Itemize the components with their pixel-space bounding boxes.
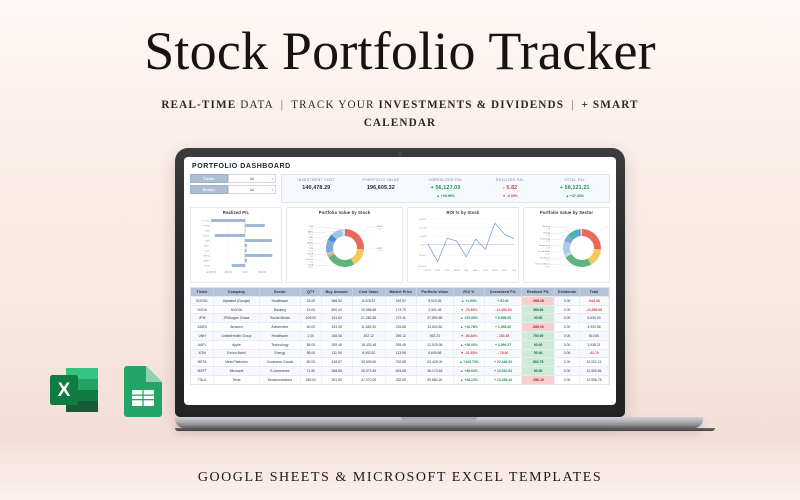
- laptop-mockup: PORTFOLIO DASHBOARD Ticker All ▾ Sector: [175, 148, 625, 431]
- svg-text:AMZN: AMZN: [454, 269, 460, 272]
- table-cell-qty: 58.00: [301, 349, 322, 358]
- table-cell-roi: ▼ -78.83%: [453, 305, 484, 314]
- svg-text:Healthcare: Healthcare: [540, 256, 551, 259]
- table-cell-dividends: 0.00: [555, 305, 580, 314]
- svg-text:5.6%: 5.6%: [309, 245, 314, 247]
- svg-text:TSLA: TSLA: [204, 264, 210, 267]
- table-cell-roi: ▲ +100.70%: [453, 358, 484, 367]
- table-cell-unrealized-p-l: + 3,990.37: [484, 340, 521, 349]
- table-cell-total: 12,996.78: [579, 375, 608, 383]
- table-cell-company: Tesla: [214, 375, 259, 383]
- kpi-value: + 56,127.03: [413, 185, 478, 191]
- table-cell-realized-p-l: 50.40: [522, 349, 555, 358]
- table-cell-market-price: 255.46: [385, 340, 416, 349]
- table-cell-sector: Energy: [259, 349, 300, 358]
- kpi-delta: ▲ +39.96%: [413, 194, 478, 198]
- kpi-delta: ▼ -0.00%: [478, 194, 543, 198]
- table-cell-roi: ▼ -56.84%: [453, 332, 484, 341]
- table-cell-unrealized-p-l: - 12,280.94: [484, 305, 521, 314]
- table-cell-realized-p-l: 20.00: [522, 314, 555, 323]
- app-icons: X: [46, 362, 174, 418]
- svg-text:24.8%: 24.8%: [308, 267, 314, 269]
- table-cell-buy-amount: 261.50: [321, 375, 352, 383]
- hero-sub-separator-2: |: [564, 99, 581, 111]
- table-cell-realized-p-l: -390.20: [522, 375, 555, 383]
- chart-title-realized-pl: Realized P/L: [193, 210, 279, 215]
- svg-text:2.7%: 2.7%: [309, 228, 314, 230]
- table-cell-portfolio-value: 27,890.85: [416, 314, 453, 323]
- table-header-buy-amount: Buy Amount: [321, 288, 352, 297]
- svg-text:Energy: Energy: [544, 231, 552, 234]
- table-cell-cost-value: 11,669.40: [352, 323, 385, 332]
- table-row[interactable]: GOOGLAlphabet (Google)Healthcare23.00368…: [191, 296, 609, 305]
- table-cell-roi: ▲ +29.90%: [453, 314, 484, 323]
- svg-text:2.7%: 2.7%: [546, 260, 551, 262]
- chart-title-value-by-stock: Portfolio Value by Stock: [289, 210, 400, 215]
- charts-row: Realized P/L GOOGLNVDAJPMAMZNUNHAAPLXOMM…: [190, 207, 610, 283]
- svg-text:2.4%: 2.4%: [309, 261, 314, 263]
- svg-text:-100.00%: -100.00%: [418, 265, 427, 267]
- table-row[interactable]: TSLATeslaSemiconductors180.00261.5047,07…: [191, 375, 609, 383]
- svg-text:11.5%: 11.5%: [308, 250, 314, 252]
- table-cell-roi: ▼ -21.63%: [453, 349, 484, 358]
- table-body: GOOGLAlphabet (Google)Healthcare23.00368…: [191, 296, 609, 383]
- table-cell-dividends: 0.00: [555, 314, 580, 323]
- table-cell-portfolio-value: 6,609.68: [416, 349, 453, 358]
- chart-roi-by-stock: ROI % by Stock 120.00%80.00%40.00%0.00%-…: [407, 207, 519, 283]
- table-cell-dividends: 0.00: [555, 323, 580, 332]
- portfolio-value-by-sector-donut: Consumer Goods26.2%E-commerce15.8%Bankin…: [526, 216, 610, 280]
- table-cell-ticker: GOOGL: [191, 296, 214, 305]
- table-cell-qty: 71.50: [301, 367, 322, 376]
- svg-text:X: X: [58, 380, 71, 401]
- hero-sub-part-realtime: REAL-TIME: [161, 99, 236, 111]
- svg-text:80.00%: 80.00%: [419, 227, 426, 229]
- svg-text:JPM: JPM: [445, 270, 449, 272]
- chart-title-roi-by-stock: ROI % by Stock: [410, 210, 516, 215]
- table-cell-ticker: JPM: [191, 314, 214, 323]
- footer-text: GOOGLE SHEETS & MICROSOFT EXCEL TEMPLATE…: [0, 470, 800, 486]
- table-cell-portfolio-value: 63,428.00: [416, 358, 453, 367]
- filter-sector-select[interactable]: All ▾: [228, 185, 276, 194]
- kpi-card-3: REALIZED P&L- 5.82▼ -0.00%: [478, 178, 543, 198]
- table-cell-total: 3,938.21: [579, 340, 608, 349]
- table-cell-portfolio-value: 5,910.35: [416, 296, 453, 305]
- table-cell-ticker: MSFT: [191, 367, 214, 376]
- filter-ticker-select[interactable]: All ▾: [228, 174, 276, 183]
- svg-text:UNH: UNH: [205, 240, 210, 242]
- svg-text:META: META: [377, 225, 383, 228]
- table-cell-realized-p-l: 60.00: [522, 340, 555, 349]
- svg-text:AAPL: AAPL: [473, 269, 479, 272]
- kpi-label: UNREALIZED P&L: [413, 178, 478, 182]
- table-cell-sector: Banking: [259, 305, 300, 314]
- kpi-label: INVESTMENT COST: [284, 178, 349, 182]
- chart-portfolio-value-by-stock: Portfolio Value by Stock META26.2%MSFT15…: [286, 207, 403, 283]
- table-cell-unrealized-p-l: + 1,958.40: [484, 323, 521, 332]
- svg-text:9.3%: 9.3%: [546, 241, 551, 243]
- chart-title-value-by-sector: Portfolio Value by Sector: [526, 210, 607, 215]
- table-cell-unrealized-p-l: + 22,448.53: [484, 358, 521, 367]
- table-cell-total: 32,002.24: [579, 358, 608, 367]
- table-cell-unrealized-p-l: - 180.35: [484, 332, 521, 341]
- table-cell-qty: 109.00: [301, 314, 322, 323]
- holdings-table: TickerCompanySectorQTYBuy AmountCost Val…: [191, 288, 609, 384]
- table-header-unrealized-p-l: Unrealized P/L: [484, 288, 521, 297]
- table-cell-cost-value: 18,432.48: [352, 340, 385, 349]
- table-cell-realized-p-l: -890.00: [522, 323, 555, 332]
- table-cell-cost-value: 8,476.37: [352, 296, 385, 305]
- table-cell-buy-amount: 245.56: [321, 332, 352, 341]
- table-cell-dividends: 0.00: [555, 367, 580, 376]
- svg-text:5.6%: 5.6%: [546, 247, 551, 249]
- filter-ticker-label: Ticker: [190, 174, 228, 183]
- table-cell-ticker: UNH: [191, 332, 214, 341]
- table-cell-company: Alphabet (Google): [214, 296, 259, 305]
- table-cell-dividends: 0.00: [555, 375, 580, 383]
- table-cell-ticker: TSLA: [191, 375, 214, 383]
- svg-text:NVDA: NVDA: [307, 252, 313, 255]
- table-cell-roi: ▲ +1.93%: [453, 296, 484, 305]
- portfolio-value-by-stock-donut: META26.2%MSFT15.8%XOM2.7%AAPL9.3%UNH0.2%…: [289, 216, 402, 280]
- kpi-card-0: INVESTMENT COST140,478.29: [284, 178, 349, 198]
- svg-text:XOM: XOM: [483, 270, 488, 272]
- table-cell-qty: 180.00: [301, 375, 322, 383]
- table-cell-sector: Consumer Goods: [259, 358, 300, 367]
- hero-sub-separator-1: |: [274, 99, 291, 111]
- table-row[interactable]: XOMExxon MobilEnergy58.00111.946,492.521…: [191, 349, 609, 358]
- table-cell-dividends: 0.00: [555, 296, 580, 305]
- kpi-value: - 5.82: [478, 185, 543, 191]
- table-cell-total: 12,500.84: [579, 367, 608, 376]
- table-cell-dividends: 0.00: [555, 332, 580, 341]
- google-sheets-icon[interactable]: [118, 362, 174, 418]
- kpi-label: PORTFOLIO VALUE: [349, 178, 414, 182]
- table-row[interactable]: NVDANVIDIABanking19.00820.4415,588.68173…: [191, 305, 609, 314]
- table-cell-portfolio-value: 592.24: [416, 332, 453, 341]
- table-cell-portfolio-value: 38,170.48: [416, 367, 453, 376]
- table-cell-buy-amount: 368.86: [321, 367, 352, 376]
- svg-text:AMZN: AMZN: [203, 234, 210, 237]
- table-row[interactable]: METAMeta PlatformsConsumer Goods80.00418…: [191, 358, 609, 367]
- table-header-company: Company: [214, 288, 259, 297]
- svg-text:0.2%: 0.2%: [309, 239, 314, 241]
- table-cell-buy-amount: 193.82: [321, 314, 352, 323]
- table-header-portfolio-value: Portfolio Value: [416, 288, 453, 297]
- table-cell-total: 4,900.56: [579, 323, 608, 332]
- table-cell-unrealized-p-l: + 82.91: [484, 296, 521, 305]
- svg-text:AAPL: AAPL: [204, 244, 210, 247]
- svg-text:-500.00: -500.00: [224, 271, 233, 274]
- laptop-screen: PORTFOLIO DASHBOARD Ticker All ▾ Sector: [184, 157, 616, 405]
- table-cell-buy-amount: 418.87: [321, 358, 352, 367]
- kpi-label: REALIZED P&L: [478, 178, 543, 182]
- svg-text:Automotive: Automotive: [540, 243, 551, 246]
- table-cell-buy-amount: 111.94: [321, 349, 352, 358]
- svg-text:TSLA: TSLA: [511, 269, 517, 272]
- table-row[interactable]: AMZNAmazonAutomotive60.00194.4911,669.40…: [191, 323, 609, 332]
- table-cell-dividends: 0.00: [555, 358, 580, 367]
- table-cell-sector: Social Media: [259, 314, 300, 323]
- table-cell-market-price: 792.85: [385, 358, 416, 367]
- table-cell-qty: 80.00: [301, 358, 322, 367]
- table-cell-ticker: NVDA: [191, 305, 214, 314]
- table-header-market-price: Market Price: [385, 288, 416, 297]
- table-cell-ticker: AAPL: [191, 340, 214, 349]
- table-cell-roi: ▲ +16.78%: [453, 323, 484, 332]
- table-cell-qty: 23.00: [301, 296, 322, 305]
- svg-text:15.8%: 15.8%: [377, 250, 383, 252]
- svg-text:120.00%: 120.00%: [418, 218, 426, 220]
- table-cell-market-price: 494.68: [385, 367, 416, 376]
- table-cell-portfolio-value: 59,884.20: [416, 375, 453, 383]
- filter-sector-value: All: [250, 188, 254, 192]
- table-cell-total: 6,630.00: [579, 314, 608, 323]
- svg-text:24.8%: 24.8%: [545, 266, 551, 268]
- table-header-sector: Sector: [259, 288, 300, 297]
- kpi-label: TOTAL P&L: [542, 178, 607, 182]
- svg-text:500.00: 500.00: [258, 271, 266, 274]
- table-row[interactable]: UNHUnitedHealth GroupHealthcare2.00245.5…: [191, 332, 609, 341]
- table-cell-total: -944.46: [579, 296, 608, 305]
- portfolio-dashboard: PORTFOLIO DASHBOARD Ticker All ▾ Sector: [184, 157, 616, 405]
- table-cell-roi: ▲ +48.64%: [453, 367, 484, 376]
- realized-pl-bar-chart: GOOGLNVDAJPMAMZNUNHAAPLXOMMETAMSFTTSLA -…: [193, 216, 281, 280]
- chart-portfolio-value-by-sector: Portfolio Value by Sector Consumer Goods…: [523, 207, 610, 283]
- table-cell-ticker: XOM: [191, 349, 214, 358]
- kpi-strip: INVESTMENT COST140,478.29PORTFOLIO VALUE…: [281, 174, 610, 203]
- table-cell-cost-value: 33,509.60: [352, 358, 385, 367]
- table-cell-qty: 60.00: [301, 323, 322, 332]
- table-cell-realized-p-l: -998.28: [522, 296, 555, 305]
- table-cell-qty: 19.00: [301, 305, 322, 314]
- table-cell-realized-p-l: 790.69: [522, 332, 555, 341]
- table-cell-portfolio-value: 22,529.98: [416, 340, 453, 349]
- svg-text:META: META: [204, 254, 210, 257]
- kpi-value: + 56,121.21: [542, 185, 607, 191]
- svg-text:NVDA: NVDA: [203, 224, 210, 227]
- table-cell-buy-amount: 209.46: [321, 340, 352, 349]
- table-cell-ticker: AMZN: [191, 323, 214, 332]
- svg-text:9.3%: 9.3%: [309, 234, 314, 236]
- table-cell-sector: Technology: [259, 340, 300, 349]
- table-cell-company: UnitedHealth Group: [214, 332, 259, 341]
- table-cell-unrealized-p-l: + 13,235.44: [484, 375, 521, 383]
- table-cell-buy-amount: 368.52: [321, 296, 352, 305]
- svg-text:NVDA: NVDA: [435, 269, 441, 272]
- holdings-table-wrapper: TickerCompanySectorQTYBuy AmountCost Val…: [190, 287, 610, 385]
- table-cell-company: Apple: [214, 340, 259, 349]
- table-cell-company: Microsoft: [214, 367, 259, 376]
- svg-text:2.7%: 2.7%: [546, 234, 551, 236]
- filter-panel: Ticker All ▾ Sector All ▾: [190, 174, 276, 196]
- table-cell-company: Amazon: [214, 323, 259, 332]
- table-cell-market-price: 272.11: [385, 314, 416, 323]
- svg-text:MSFT: MSFT: [502, 270, 508, 272]
- dashboard-title: PORTFOLIO DASHBOARD: [190, 162, 610, 174]
- table-cell-sector: Semiconductors: [259, 375, 300, 383]
- svg-text:UNH: UNH: [464, 270, 469, 272]
- hero-sub-part-data: DATA: [236, 99, 273, 111]
- table-cell-ticker: META: [191, 358, 214, 367]
- table-cell-company: JPMorgan Chase: [214, 314, 259, 323]
- table-cell-dividends: 0.00: [555, 340, 580, 349]
- kpi-card-2: UNREALIZED P&L+ 56,127.03▲ +39.96%: [413, 178, 478, 198]
- kpi-card-4: TOTAL P&L+ 56,121.21▲ +37.33%: [542, 178, 607, 198]
- svg-text:GOOGL: GOOGL: [201, 220, 210, 222]
- svg-text:AMZN: AMZN: [307, 241, 313, 244]
- svg-text:-1,000.00: -1,000.00: [206, 271, 217, 274]
- table-cell-unrealized-p-l: + 6,608.00: [484, 314, 521, 323]
- table-header-row: TickerCompanySectorQTYBuy AmountCost Val…: [191, 288, 609, 297]
- table-cell-realized-p-l: 589.66: [522, 305, 555, 314]
- svg-text:1.4%: 1.4%: [546, 228, 551, 230]
- table-header-cost-value: Cost Value: [352, 288, 385, 297]
- table-cell-cost-value: 492.12: [352, 332, 385, 341]
- table-cell-total: -12,969.68: [579, 305, 608, 314]
- table-cell-market-price: 332.69: [385, 375, 416, 383]
- table-header-dividends: Dividends: [555, 288, 580, 297]
- hero-subtitle: REAL-TIME DATA | TRACK YOUR INVESTMENTS …: [140, 96, 660, 132]
- table-cell-sector: E-commerce: [259, 367, 300, 376]
- kpi-value: 140,478.29: [284, 185, 349, 191]
- svg-text:JPM: JPM: [205, 230, 210, 232]
- table-cell-unrealized-p-l: - 76.40: [484, 349, 521, 358]
- table-cell-portfolio-value: 13,604.80: [416, 323, 453, 332]
- svg-text:1.4%: 1.4%: [309, 256, 314, 258]
- filter-sector-label: Sector: [190, 185, 228, 194]
- chevron-down-icon: ▾: [271, 177, 273, 181]
- svg-text:AAPL: AAPL: [308, 230, 314, 233]
- table-cell-market-price: 113.96: [385, 349, 416, 358]
- microsoft-excel-icon[interactable]: X: [46, 362, 102, 418]
- hero-sub-part-investments: INVESTMENTS & DIVIDENDS: [379, 99, 565, 111]
- table-cell-realized-p-l: 60.00: [522, 367, 555, 376]
- table-cell-market-price: 296.12: [385, 332, 416, 341]
- table-cell-sector: Healthcare: [259, 332, 300, 341]
- svg-text:GOOGL: GOOGL: [424, 270, 432, 272]
- table-header-roi: ROI %: [453, 288, 484, 297]
- table-cell-cost-value: 21,282.85: [352, 314, 385, 323]
- svg-text:Semiconductors: Semiconductors: [535, 262, 550, 265]
- table-cell-realized-p-l: 802.78: [522, 358, 555, 367]
- svg-text:-50.00%: -50.00%: [419, 255, 427, 257]
- table-cell-market-price: 173.79: [385, 305, 416, 314]
- svg-text:MSFT: MSFT: [204, 260, 211, 262]
- svg-text:0.00%: 0.00%: [421, 244, 427, 246]
- laptop-base-edge: [175, 428, 715, 431]
- svg-text:META: META: [492, 269, 498, 272]
- table-cell-qty: 88.00: [301, 340, 322, 349]
- table-cell-qty: 2.00: [301, 332, 322, 341]
- laptop-lid: PORTFOLIO DASHBOARD Ticker All ▾ Sector: [175, 148, 625, 417]
- table-cell-dividends: 0.00: [555, 349, 580, 358]
- laptop-base: [175, 417, 703, 428]
- table-header-qty: QTY: [301, 288, 322, 297]
- filter-sector[interactable]: Sector All ▾: [190, 185, 276, 194]
- chevron-down-icon: ▾: [271, 188, 273, 192]
- table-cell-total: -42.70: [579, 349, 608, 358]
- filter-ticker-value: All: [250, 177, 254, 181]
- table-header-realized-p-l: Realized P/L: [522, 288, 555, 297]
- table-cell-market-price: 226.88: [385, 323, 416, 332]
- table-cell-company: Meta Platforms: [214, 358, 259, 367]
- table-cell-sector: Automotive: [259, 323, 300, 332]
- table-cell-company: NVIDIA: [214, 305, 259, 314]
- kpi-value: 196,605.32: [349, 185, 414, 191]
- table-cell-cost-value: 47,070.00: [352, 375, 385, 383]
- hero-sub-part-track: TRACK YOUR: [291, 99, 378, 111]
- table-cell-cost-value: 26,373.49: [352, 367, 385, 376]
- table-cell-cost-value: 15,588.68: [352, 305, 385, 314]
- chart-realized-pl: Realized P/L GOOGLNVDAJPMAMZNUNHAAPLXOMM…: [190, 207, 282, 283]
- page-title: Stock Portfolio Tracker: [0, 0, 800, 80]
- svg-text:11.5%: 11.5%: [545, 253, 551, 255]
- svg-text:0.00: 0.00: [243, 271, 248, 274]
- table-cell-unrealized-p-l: + 12,510.64: [484, 367, 521, 376]
- kpi-delta: ▲ +37.33%: [542, 194, 607, 198]
- table-row[interactable]: MSFTMicrosoftE-commerce71.50368.8626,373…: [191, 367, 609, 376]
- svg-text:26.2%: 26.2%: [377, 228, 383, 230]
- table-row[interactable]: JPMJPMorgan ChaseSocial Media109.00193.8…: [191, 314, 609, 323]
- filter-ticker[interactable]: Ticker All ▾: [190, 174, 276, 183]
- table-cell-cost-value: 6,492.52: [352, 349, 385, 358]
- svg-text:XOM: XOM: [205, 250, 210, 252]
- table-cell-total: 810.60: [579, 332, 608, 341]
- table-cell-buy-amount: 820.44: [321, 305, 352, 314]
- table-cell-market-price: 192.97: [385, 296, 416, 305]
- table-cell-sector: Healthcare: [259, 296, 300, 305]
- table-cell-roi: ▲ +26.00%: [453, 340, 484, 349]
- table-cell-roi: ▲ +28.12%: [453, 375, 484, 383]
- svg-text:40.00%: 40.00%: [419, 235, 426, 237]
- kpi-card-1: PORTFOLIO VALUE196,605.32: [349, 178, 414, 198]
- table-cell-portfolio-value: 3,301.08: [416, 305, 453, 314]
- table-cell-buy-amount: 194.49: [321, 323, 352, 332]
- table-row[interactable]: AAPLAppleTechnology88.00209.4618,432.482…: [191, 340, 609, 349]
- svg-text:TSLA: TSLA: [308, 263, 314, 266]
- table-header-ticker: Ticker: [191, 288, 214, 297]
- roi-line-chart: 120.00%80.00%40.00%0.00%-50.00%-100.00% …: [410, 216, 518, 280]
- table-header-total: Total: [579, 288, 608, 297]
- table-cell-company: Exxon Mobil: [214, 349, 259, 358]
